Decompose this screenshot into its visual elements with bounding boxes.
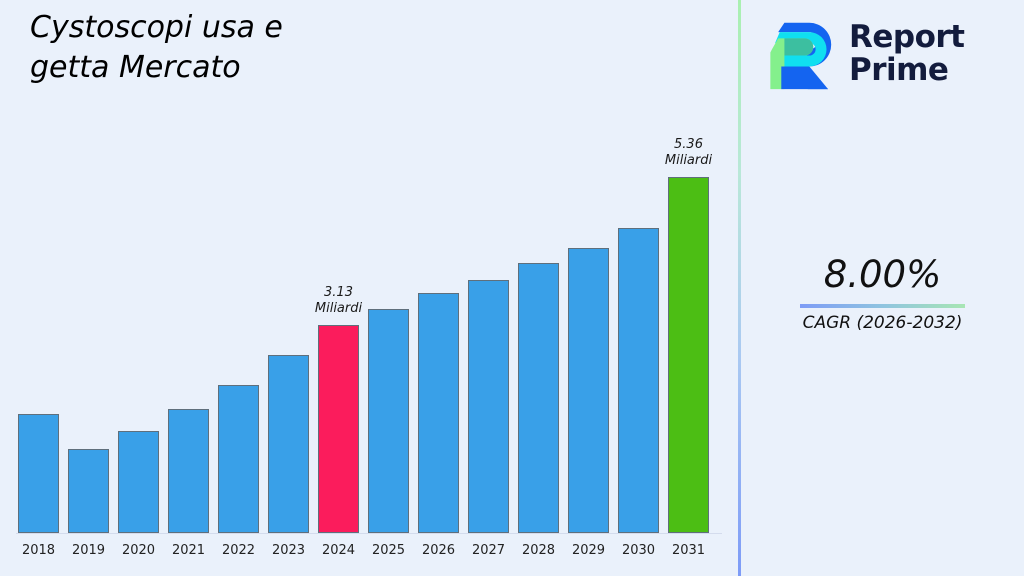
screenshot-root: Cystoscopi usa e getta Mercato 201820192… xyxy=(0,0,1024,576)
bar-2030[interactable] xyxy=(618,228,659,533)
x-tick-2023: 2023 xyxy=(264,543,314,559)
cagr-caption: CAGR (2026-2032) xyxy=(741,312,1024,334)
cagr-divider-rule xyxy=(800,304,965,308)
chart-panel: Cystoscopi usa e getta Mercato 201820192… xyxy=(0,0,738,576)
x-tick-2021: 2021 xyxy=(164,543,214,559)
brand-line-2: Prime xyxy=(849,52,948,88)
bar-2019[interactable] xyxy=(68,449,109,533)
brand-line-1: Report xyxy=(849,19,965,55)
x-tick-2019: 2019 xyxy=(64,543,114,559)
x-tick-2027: 2027 xyxy=(464,543,514,559)
report-prime-r-logo-icon xyxy=(761,15,839,93)
x-tick-2029: 2029 xyxy=(564,543,614,559)
x-tick-2022: 2022 xyxy=(214,543,264,559)
brand-logo: Report Prime xyxy=(761,12,1011,96)
bar-2023[interactable] xyxy=(268,355,309,533)
cagr-value: 8.00% xyxy=(741,252,1024,298)
x-tick-2025: 2025 xyxy=(364,543,414,559)
bar-2028[interactable] xyxy=(518,263,559,533)
x-tick-2031: 2031 xyxy=(664,543,714,559)
side-panel: Report Prime 8.00% CAGR (2026-2032) xyxy=(741,0,1024,576)
x-tick-2020: 2020 xyxy=(114,543,164,559)
bar-2024[interactable] xyxy=(318,325,359,533)
x-axis-line xyxy=(16,533,722,534)
brand-wordmark: Report Prime xyxy=(849,21,965,87)
bar-2021[interactable] xyxy=(168,409,209,533)
x-tick-2018: 2018 xyxy=(14,543,64,559)
bar-chart-plot: 2018201920202021202220233.13 Miliardi202… xyxy=(0,0,738,576)
bar-2031[interactable] xyxy=(668,177,709,533)
bar-2022[interactable] xyxy=(218,385,259,533)
bar-value-label-2031: 5.36 Miliardi xyxy=(634,137,744,169)
bar-2018[interactable] xyxy=(18,414,59,533)
cagr-block: 8.00% CAGR (2026-2032) xyxy=(741,252,1024,334)
bar-2027[interactable] xyxy=(468,280,509,533)
bar-2026[interactable] xyxy=(418,293,459,533)
x-tick-2028: 2028 xyxy=(514,543,564,559)
bar-2029[interactable] xyxy=(568,248,609,533)
x-tick-2030: 2030 xyxy=(614,543,664,559)
x-tick-2026: 2026 xyxy=(414,543,464,559)
x-tick-2024: 2024 xyxy=(314,543,364,559)
bar-2020[interactable] xyxy=(118,431,159,533)
bar-2025[interactable] xyxy=(368,309,409,533)
